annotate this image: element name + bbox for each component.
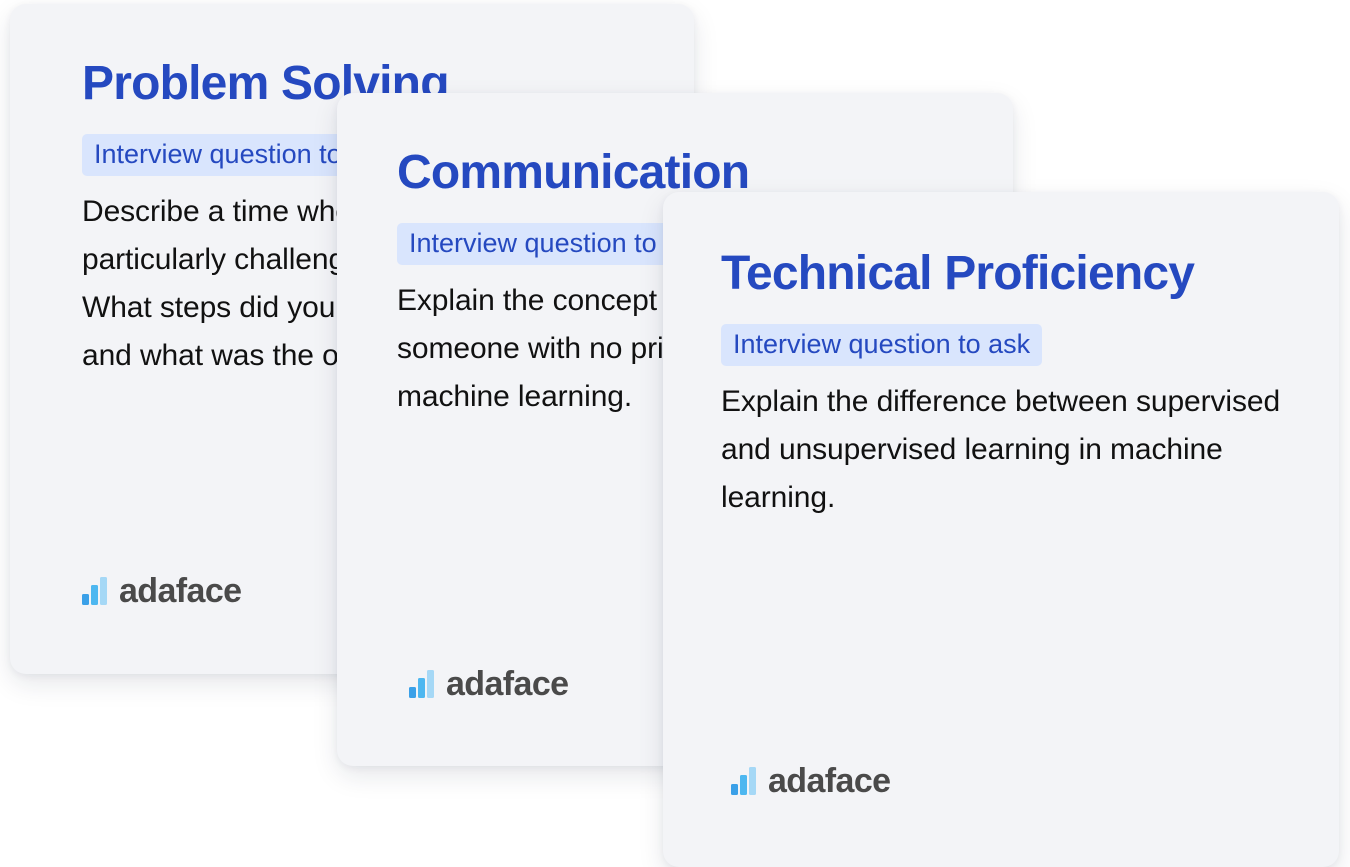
adaface-wordmark: adaface bbox=[768, 764, 890, 798]
adaface-logo: adaface bbox=[409, 667, 568, 701]
bar-chart-icon bbox=[409, 670, 435, 698]
card-content: Technical Proficiency Interview question… bbox=[721, 250, 1291, 827]
adaface-wordmark: adaface bbox=[119, 574, 241, 608]
bar-chart-icon bbox=[731, 767, 757, 795]
adaface-wordmark: adaface bbox=[446, 667, 568, 701]
adaface-logo: adaface bbox=[82, 574, 241, 608]
page-title: Communication bbox=[397, 149, 965, 197]
status-badge: Interview question to ask bbox=[721, 324, 1042, 366]
card-stack-stage: Problem Solving Interview question to as… bbox=[0, 0, 1350, 867]
page-title: Technical Proficiency bbox=[721, 250, 1291, 298]
bar-chart-icon bbox=[82, 577, 108, 605]
adaface-logo: adaface bbox=[731, 764, 890, 798]
interview-question-text: Explain the difference between supervise… bbox=[721, 378, 1291, 522]
skill-card-technical-proficiency[interactable]: Technical Proficiency Interview question… bbox=[663, 192, 1339, 867]
badge-row: Interview question to ask bbox=[721, 324, 1291, 366]
